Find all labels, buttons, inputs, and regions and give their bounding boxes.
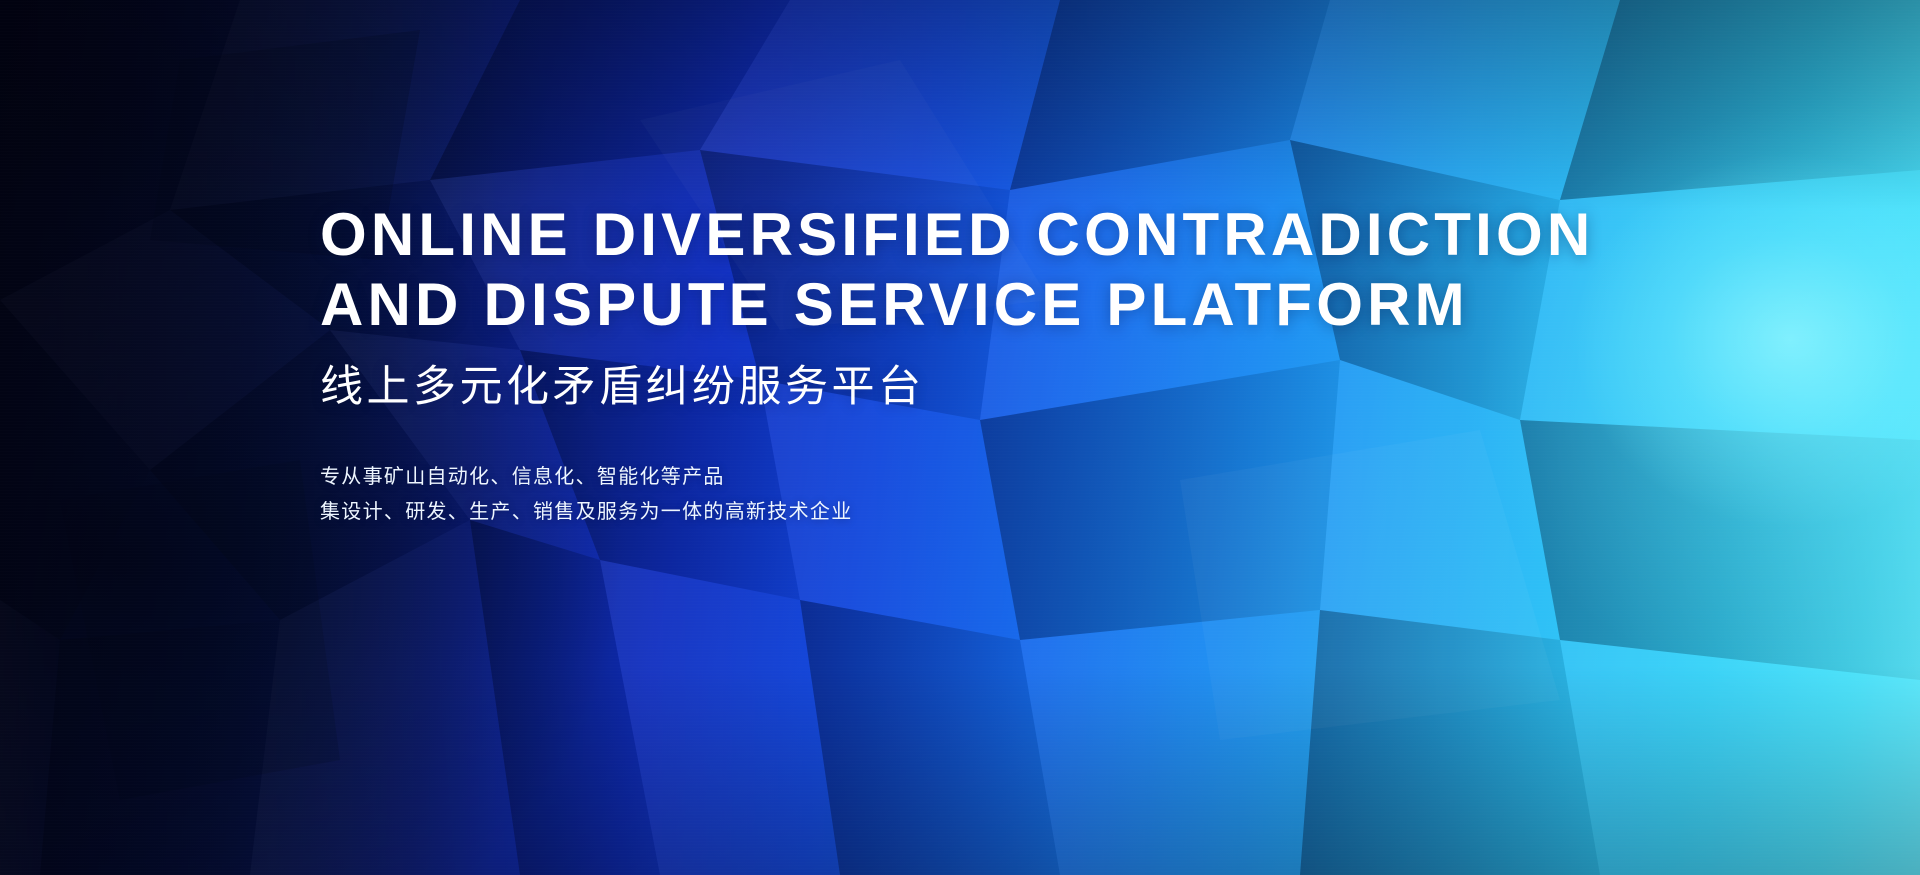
banner-description: 专从事矿山自动化、信息化、智能化等产品 集设计、研发、生产、销售及服务为一体的高… [320,460,1740,530]
banner-headline-english: ONLINE DIVERSIFIED CONTRADICTION AND DIS… [320,200,1740,340]
banner-headline-chinese: 线上多元化矛盾纠纷服务平台 [320,362,1740,414]
banner-content: ONLINE DIVERSIFIED CONTRADICTION AND DIS… [320,200,1740,530]
description-line-1: 专从事矿山自动化、信息化、智能化等产品 [320,460,1740,495]
description-line-2: 集设计、研发、生产、销售及服务为一体的高新技术企业 [320,495,1740,530]
hero-banner: ONLINE DIVERSIFIED CONTRADICTION AND DIS… [0,0,1920,875]
